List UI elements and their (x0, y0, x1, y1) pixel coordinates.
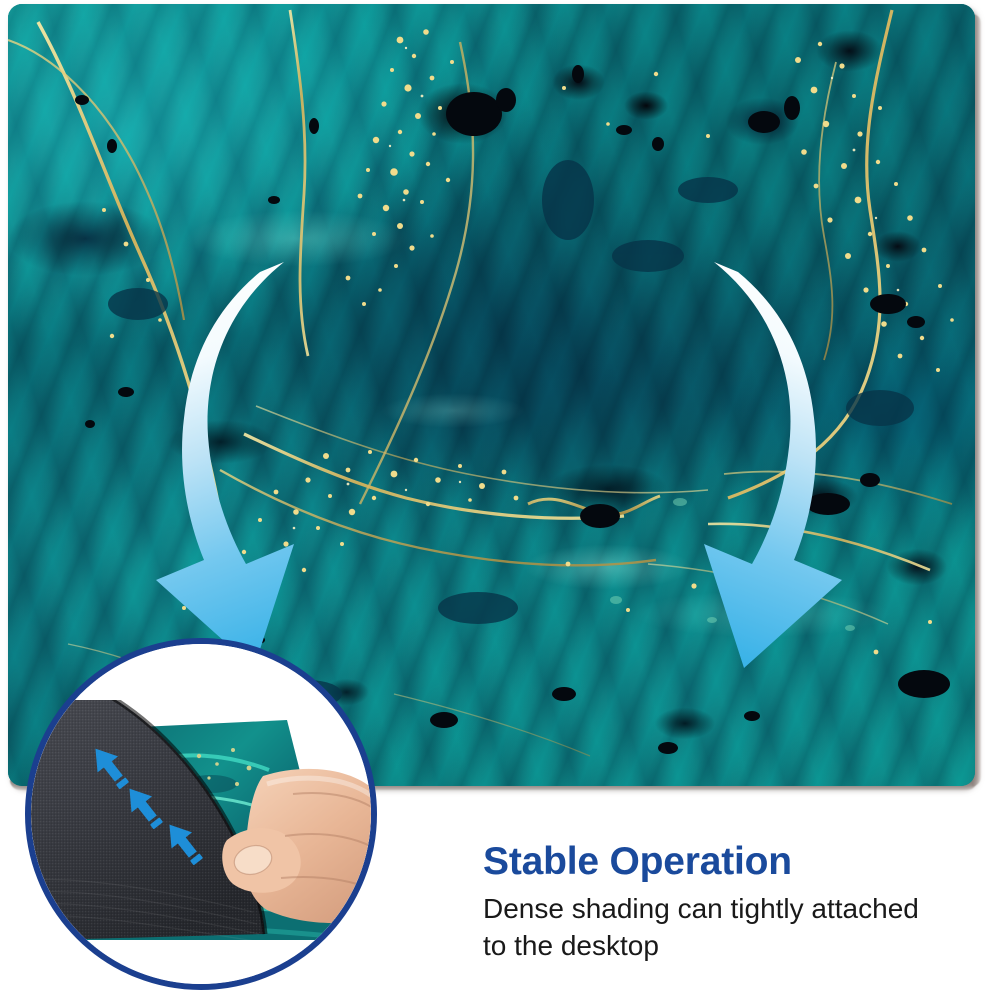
non-slip-base-closeup (25, 638, 377, 990)
product-feature-card: Stable Operation Dense shading can tight… (0, 0, 1000, 1002)
inset-photo (31, 644, 371, 984)
caption-title: Stable Operation (483, 842, 983, 883)
caption-body: Dense shading can tightly attached to th… (483, 891, 935, 965)
caption-block: Stable Operation Dense shading can tight… (483, 842, 983, 964)
